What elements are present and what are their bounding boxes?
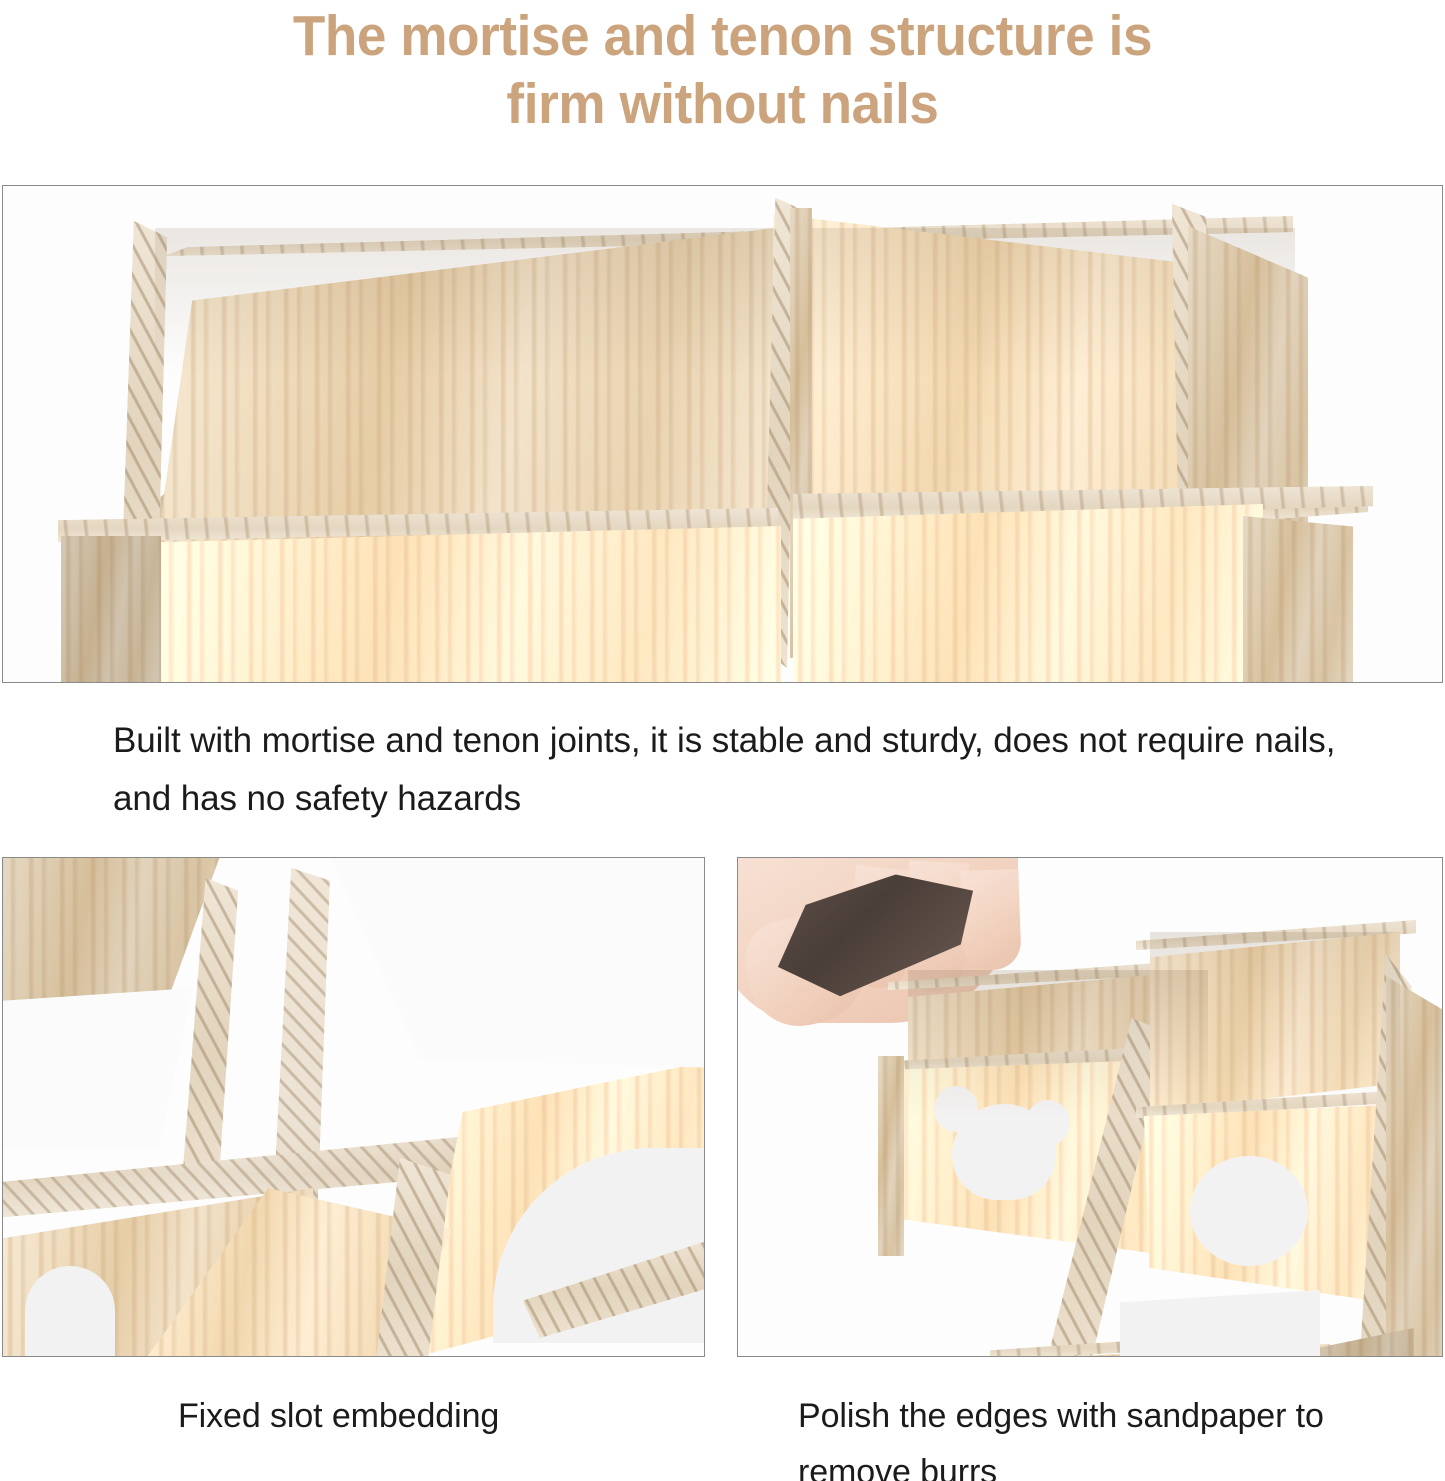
sanding-image-panel <box>737 857 1443 1357</box>
fixed-slot-image-stage <box>3 858 704 1356</box>
finger-ring <box>960 869 1021 971</box>
bear-head-cutout-right-panel <box>952 1104 1056 1200</box>
sanding-caption: Polish the edges with sandpaper to remov… <box>798 1388 1398 1481</box>
right-compartment-back-wall <box>1150 932 1400 1112</box>
sanding-image-stage <box>738 858 1442 1356</box>
back-panel-left <box>155 228 775 558</box>
page-title: The mortise and tenon structure is firm … <box>51 2 1395 138</box>
hero-image-panel <box>2 185 1443 683</box>
fixed-slot-image-panel <box>2 857 705 1357</box>
right-outer-board <box>1386 976 1443 1357</box>
background-negative-space-left <box>3 988 193 1148</box>
front-panel-right <box>793 504 1263 683</box>
round-cutout-right-panel <box>1190 1156 1308 1266</box>
oval-cutout-bottom-left <box>25 1266 115 1357</box>
hero-image-stage <box>3 186 1442 682</box>
front-panel-left <box>151 526 781 683</box>
fixed-slot-caption: Fixed slot embedding <box>178 1388 698 1444</box>
front-left-corner-board <box>61 536 161 683</box>
hero-description: Built with mortise and tenon joints, it … <box>113 712 1363 828</box>
left-panel-side-stile <box>878 1056 904 1256</box>
rect-cutout-lower <box>1120 1290 1320 1357</box>
bottom-right-end-board <box>1243 516 1353 683</box>
background-negative-space <box>303 857 705 1068</box>
infographic-page: The mortise and tenon structure is firm … <box>0 0 1445 1481</box>
